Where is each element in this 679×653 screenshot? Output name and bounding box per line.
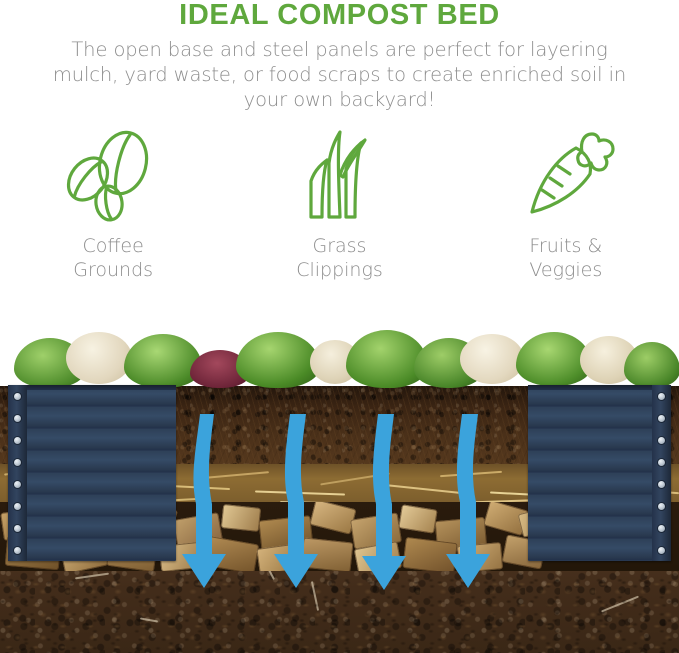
carrot-icon [501,128,631,223]
corner-post-right [652,385,671,561]
bolt-icon [658,481,665,488]
cauliflower-plant [66,332,132,384]
steel-panel-right [528,385,671,561]
bolt-icon [14,525,21,532]
cabbage-plant [124,334,202,388]
header: IDEAL COMPOST BED The open base and stee… [0,0,679,118]
raised-garden-bed-illustration [0,326,679,653]
bolt-icon [658,547,665,554]
panel-top-edge [8,385,176,390]
feature-fruits-veggies: Fruits & Veggies [471,128,661,282]
bolt-icon [658,525,665,532]
feature-list: Coffee Grounds Grass Clippings [0,128,679,308]
feature-coffee-grounds: Coffee Grounds [18,128,208,282]
page-title: IDEAL COMPOST BED [0,0,679,31]
bolt-icon [658,415,665,422]
bolt-icon [14,481,21,488]
bolt-icon [14,415,21,422]
cabbage-plant [236,332,320,388]
bolt-icon [14,437,21,444]
bolt-icon [14,503,21,510]
panel-top-edge [528,385,671,390]
bolt-icon [658,437,665,444]
steel-panel-left [8,385,176,561]
bolt-icon [14,547,21,554]
cabbage-plant [624,342,679,388]
coffee-beans-icon [48,128,178,223]
cauliflower-plant [460,334,524,384]
page-subtitle: The open base and steel panels are perfe… [50,37,630,112]
vegetable-crops [0,326,679,388]
grass-blades-icon [274,128,404,223]
bolt-icon [14,459,21,466]
feature-label: Coffee Grounds [73,234,153,282]
feature-label: Grass Clippings [296,234,383,282]
feature-grass-clippings: Grass Clippings [244,128,434,282]
bolt-icon [658,503,665,510]
bolt-icon [658,393,665,400]
bolt-icon [658,459,665,466]
feature-label: Fruits & Veggies [529,234,602,282]
bolt-icon [14,393,21,400]
corner-post-left [8,385,27,561]
